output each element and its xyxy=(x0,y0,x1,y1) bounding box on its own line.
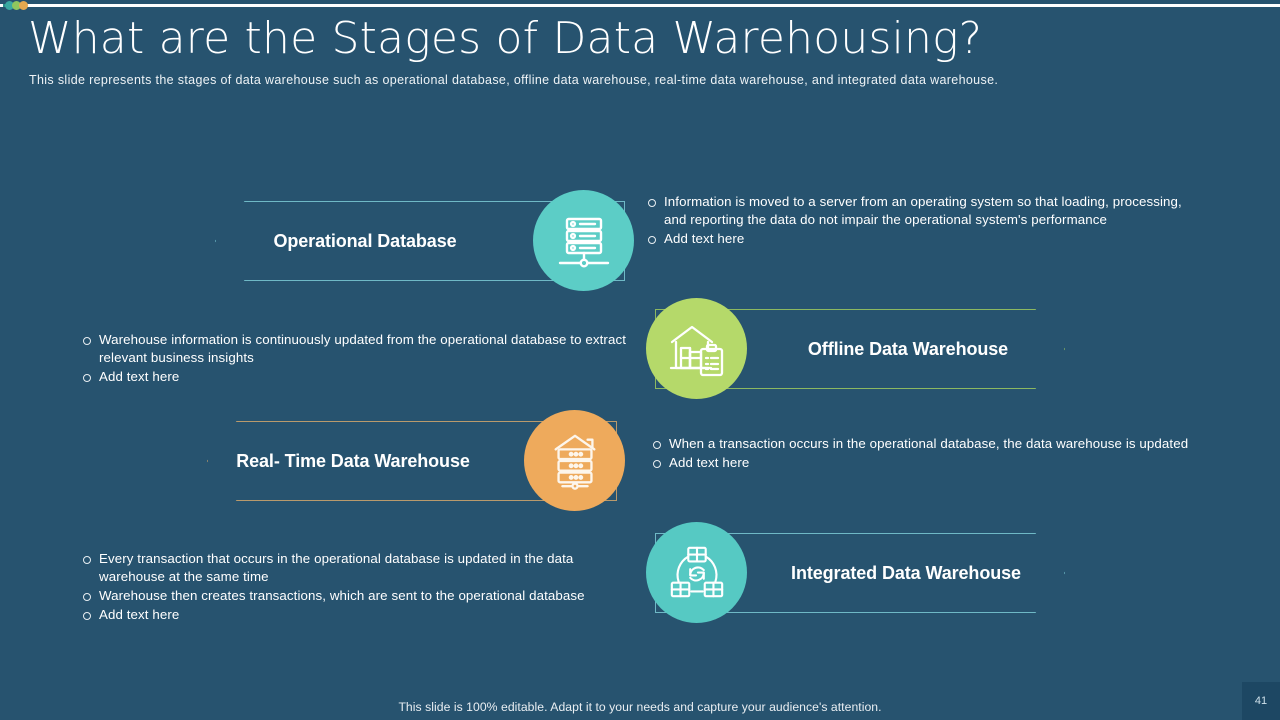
icon-circle-operational-database[interactable] xyxy=(533,190,634,291)
list-item: When a transaction occurs in the operati… xyxy=(650,435,1195,453)
icon-circle-offline-data-warehouse[interactable] xyxy=(646,298,747,399)
icon-circle-real-time-data-warehouse[interactable] xyxy=(524,410,625,511)
list-item: Add text here xyxy=(80,606,635,624)
decor-dot-orange xyxy=(19,1,28,10)
house-server-icon xyxy=(545,431,605,491)
list-item: Warehouse information is continuously up… xyxy=(80,331,635,367)
list-item: Add text here xyxy=(80,368,635,386)
list-item: Warehouse then creates transactions, whi… xyxy=(80,587,635,605)
header-rule xyxy=(0,4,1280,7)
footer-note: This slide is 100% editable. Adapt it to… xyxy=(0,700,1280,714)
icon-circle-integrated-data-warehouse[interactable] xyxy=(646,522,747,623)
bullets-integrated-data-warehouse: Every transaction that occurs in the ope… xyxy=(80,550,635,625)
decorative-dots xyxy=(3,1,39,10)
list-item: Every transaction that occurs in the ope… xyxy=(80,550,635,586)
page-number-badge: 41 xyxy=(1242,682,1280,720)
sync-databases-icon xyxy=(667,543,727,603)
list-item: Add text here xyxy=(645,230,1190,248)
server-rack-icon xyxy=(553,210,615,272)
list-item: Information is moved to a server from an… xyxy=(645,193,1190,229)
bullets-offline-data-warehouse: Warehouse information is continuously up… xyxy=(80,331,635,387)
bullets-operational-database: Information is moved to a server from an… xyxy=(645,193,1190,249)
list-item: Add text here xyxy=(650,454,1195,472)
warehouse-clipboard-icon xyxy=(666,318,728,380)
page-subtitle: This slide represents the stages of data… xyxy=(29,73,998,87)
page-title: What are the Stages of Data Warehousing? xyxy=(28,12,982,66)
bullets-real-time-data-warehouse: When a transaction occurs in the operati… xyxy=(650,435,1195,473)
